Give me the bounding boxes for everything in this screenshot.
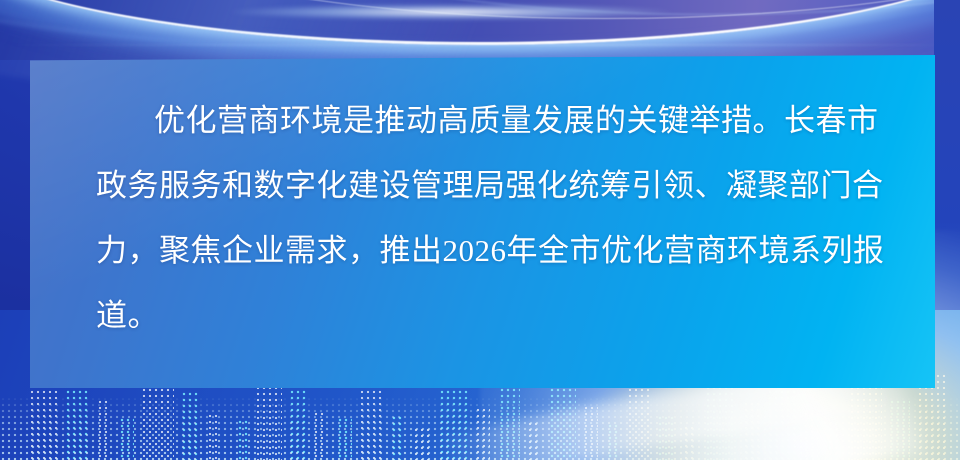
ribbon-hotspot-icon [230,4,672,20]
background-sheen-line [0,44,960,46]
banner-body-text: 优化营商环境是推动高质量发展的关键举措。长春市政务服务和数字化建设管理局强化统筹… [96,88,896,348]
banner-canvas: 优化营商环境是推动高质量发展的关键举措。长春市政务服务和数字化建设管理局强化统筹… [0,0,960,460]
